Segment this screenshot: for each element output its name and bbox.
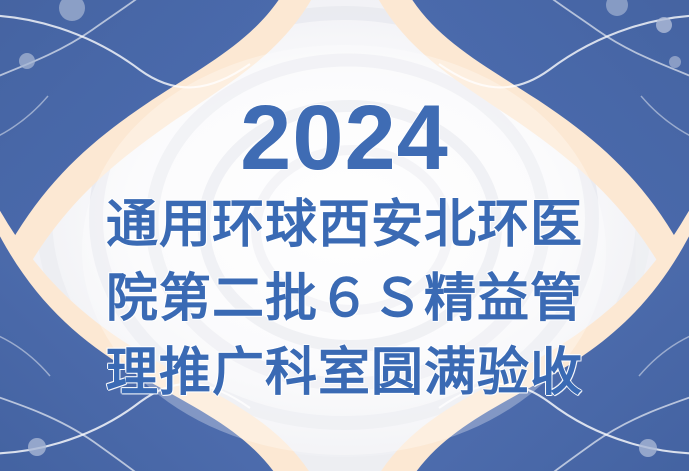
poster-canvas: 2024 通用环球西安北环医 院第二批６Ｓ精益管 理推广科室圆满验收 (0, 0, 689, 471)
decorative-background (0, 0, 689, 471)
center-veil (82, 45, 606, 455)
